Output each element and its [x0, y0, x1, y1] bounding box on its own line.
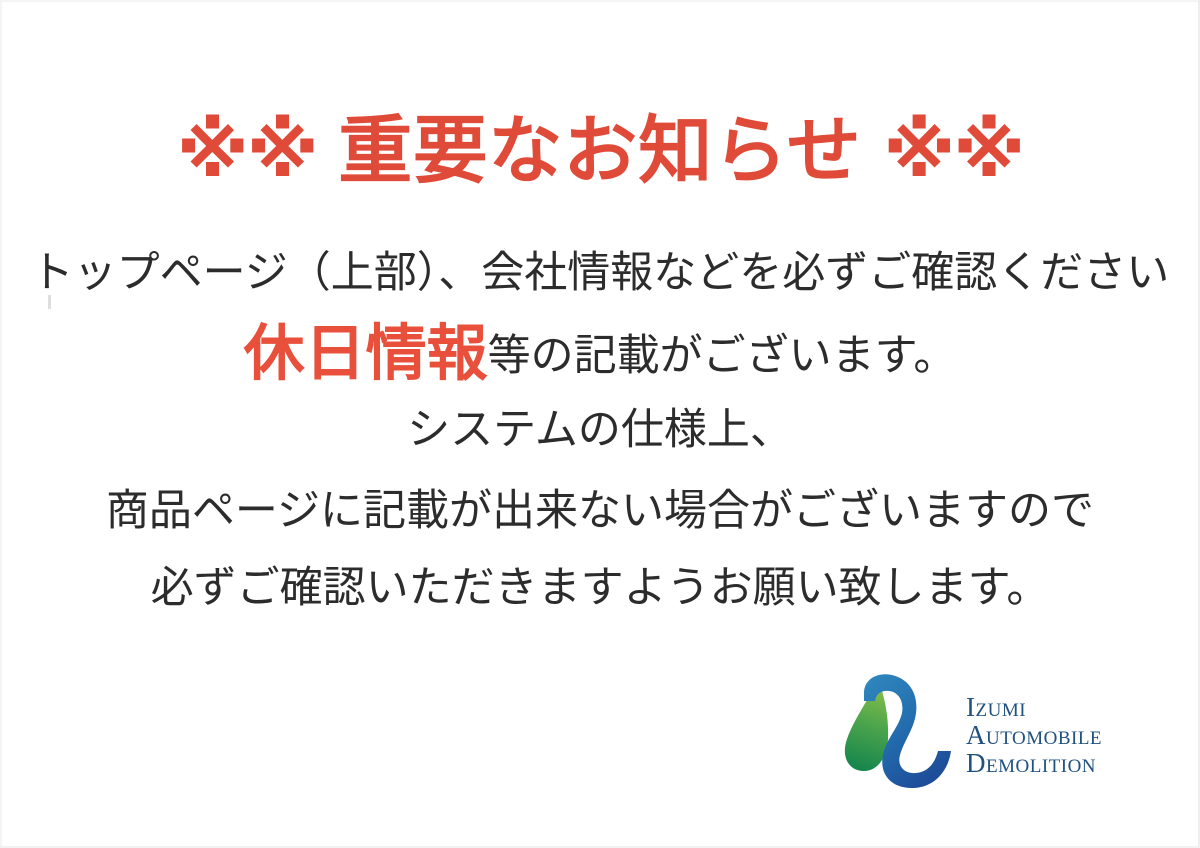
notice-line-3: システムの仕様上、	[0, 409, 1200, 452]
notice-line-5-text: 必ずご確認いただきますようお願い致します。	[151, 564, 1050, 612]
notice-line-5: 必ずご確認いただきますようお願い致します。	[0, 567, 1200, 610]
logo-wordmark-line-3: Demolition	[966, 749, 1102, 777]
holiday-info-emphasis: 休日情報	[244, 319, 488, 387]
notice-sheet: ※※ 重要なお知らせ ※※ トップページ（上部）、会社情報などを必ずご確認くださ…	[0, 0, 1200, 848]
company-logo: Izumi Automobile Demolition	[838, 672, 1128, 794]
logo-wordmark-line-1: Izumi	[966, 693, 1102, 721]
notice-line-3-text: システムの仕様上、	[407, 406, 793, 454]
izumi-wave-leaf-mark-icon	[838, 671, 956, 796]
notice-line-4: 商品ページに記載が出来ない場合がございますので	[0, 490, 1200, 533]
notice-line-2-text: 等の記載がございます。	[488, 332, 957, 380]
logo-wordmark: Izumi Automobile Demolition	[966, 689, 1102, 777]
logo-wordmark-line-2: Automobile	[966, 721, 1102, 749]
notice-line-1-text: トップページ（上部）、会社情報などを必ずご確認ください	[31, 249, 1170, 297]
notice-line-4-text: 商品ページに記載が出来ない場合がございますので	[106, 487, 1094, 535]
headline-text: 重要なお知らせ	[338, 109, 862, 192]
page-headline: ※※ 重要なお知らせ ※※	[0, 108, 1200, 194]
notice-line-2: 休日情報等の記載がございます。	[0, 332, 1200, 378]
notice-line-1: トップページ（上部）、会社情報などを必ずご確認ください	[0, 252, 1200, 295]
notice-body: トップページ（上部）、会社情報などを必ずご確認ください 休日情報等の記載がござい…	[0, 252, 1200, 610]
reference-mark-left: ※※	[177, 109, 317, 192]
scan-edge-top	[0, 0, 1200, 2]
reference-mark-right: ※※	[883, 109, 1023, 192]
